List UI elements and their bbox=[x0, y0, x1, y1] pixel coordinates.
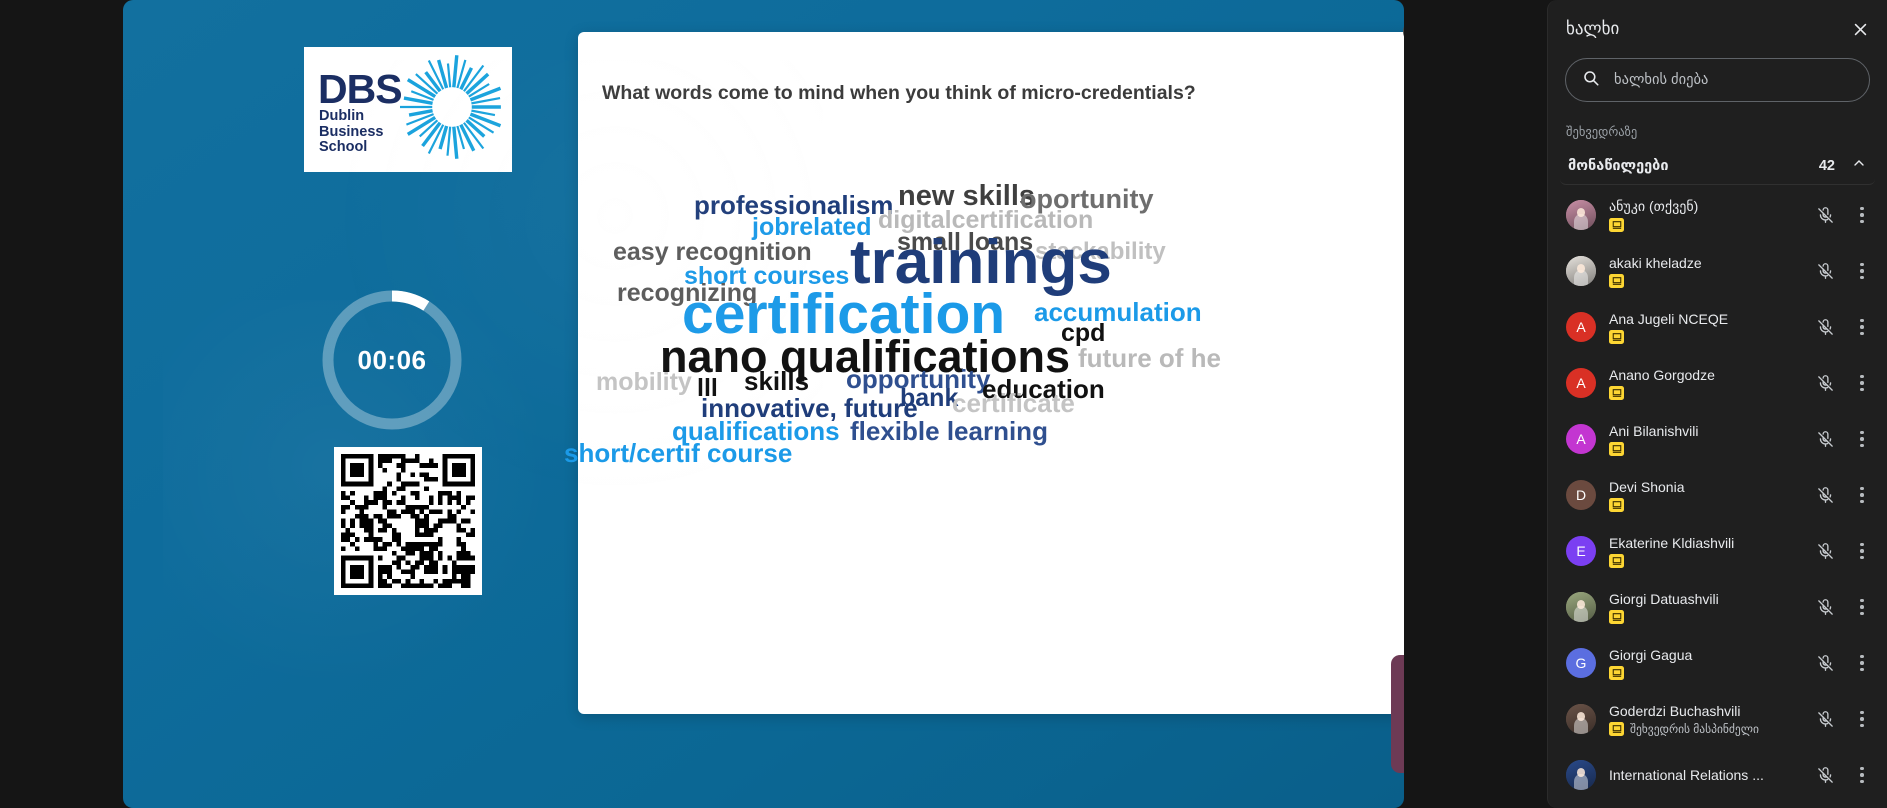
participant-name: Devi Shonia bbox=[1609, 479, 1799, 495]
countdown-timer: 00:06 bbox=[317, 285, 467, 435]
participant-name: Ekaterine Kldiashvili bbox=[1609, 535, 1799, 551]
word-cloud-term: flexible learning bbox=[850, 418, 1048, 444]
logo-title: DBS bbox=[318, 66, 402, 113]
group-label: მონაწილეები bbox=[1568, 158, 1819, 174]
search-icon bbox=[1582, 69, 1600, 92]
panel-title: ხალხი bbox=[1566, 19, 1619, 39]
participant-meta bbox=[1609, 666, 1799, 680]
dbs-logo: DBS Dublin Business School bbox=[304, 47, 512, 172]
search-input[interactable]: ხალხის ძიება bbox=[1565, 58, 1870, 102]
responses-badge: 19 / 19 bbox=[1403, 18, 1404, 45]
participant-info: Giorgi Datuashvili bbox=[1609, 591, 1799, 624]
participant-meta bbox=[1609, 330, 1799, 344]
mic-off-icon[interactable] bbox=[1812, 654, 1838, 673]
mic-off-icon[interactable] bbox=[1812, 766, 1838, 785]
close-icon[interactable] bbox=[1847, 16, 1873, 42]
avatar bbox=[1566, 200, 1596, 230]
logo-subtitle-line1: Dublin bbox=[319, 109, 383, 125]
participant-info: Giorgi Gagua bbox=[1609, 647, 1799, 680]
more-options-icon[interactable] bbox=[1851, 431, 1873, 448]
avatar bbox=[1566, 760, 1596, 790]
presentation-stage: DBS Dublin Business School 00:06 bbox=[123, 0, 1404, 808]
panel-header: ხალხი bbox=[1548, 0, 1887, 58]
word-cloud-term: easy recognition bbox=[613, 240, 812, 265]
presenting-icon bbox=[1609, 274, 1624, 288]
participant-name: International Relations ... bbox=[1609, 767, 1799, 783]
participant-meta bbox=[1609, 442, 1799, 456]
participant-name: Giorgi Datuashvili bbox=[1609, 591, 1799, 607]
poll-question: What words come to mind when you think o… bbox=[602, 82, 1196, 105]
word-cloud-term: qualifications bbox=[672, 418, 840, 444]
avatar bbox=[1566, 592, 1596, 622]
participant-row[interactable]: DDevi Shonia bbox=[1548, 467, 1887, 523]
more-options-icon[interactable] bbox=[1851, 711, 1873, 728]
presenting-icon bbox=[1609, 722, 1624, 736]
word-cloud: professionalismnew skillsoportunityjobre… bbox=[578, 182, 1404, 582]
mic-off-icon[interactable] bbox=[1812, 374, 1838, 393]
avatar bbox=[1566, 704, 1596, 734]
participant-info: Ani Bilanishvili bbox=[1609, 423, 1799, 456]
participant-info: Devi Shonia bbox=[1609, 479, 1799, 512]
participant-info: ანუკი (თქვენ) bbox=[1609, 198, 1799, 232]
participant-row[interactable]: EEkaterine Kldiashvili bbox=[1548, 523, 1887, 579]
people-panel: ხალხი ხალხის ძიება შეხვედრაზე მონაწილეებ… bbox=[1547, 0, 1887, 808]
participant-row[interactable]: AAnano Gorgodze bbox=[1548, 355, 1887, 411]
participant-row[interactable]: GGiorgi Gagua bbox=[1548, 635, 1887, 691]
more-options-icon[interactable] bbox=[1851, 207, 1873, 224]
poll-slide: 19 / 19 What words come to mind when you… bbox=[578, 32, 1404, 714]
presenting-icon bbox=[1609, 666, 1624, 680]
logo-subtitle: Dublin Business School bbox=[319, 109, 383, 156]
self-view-tile[interactable]: ანუკი bbox=[1391, 655, 1404, 773]
mic-off-icon[interactable] bbox=[1812, 710, 1838, 729]
avatar: E bbox=[1566, 536, 1596, 566]
more-options-icon[interactable] bbox=[1851, 543, 1873, 560]
avatar: A bbox=[1566, 312, 1596, 342]
participant-meta bbox=[1609, 554, 1799, 568]
participant-name: ანუკი (თქვენ) bbox=[1609, 198, 1799, 215]
participant-row[interactable]: AAni Bilanishvili bbox=[1548, 411, 1887, 467]
participant-row[interactable]: Goderdzi Buchashvili შეხვედრის მასპინძელ… bbox=[1548, 691, 1887, 747]
participant-info: Anano Gorgodze bbox=[1609, 367, 1799, 400]
participant-row[interactable]: ანუკი (თქვენ) bbox=[1548, 187, 1887, 243]
participant-list: ანუკი (თქვენ) akaki kheladze AAna Jugeli… bbox=[1548, 187, 1887, 803]
participant-meta bbox=[1609, 274, 1799, 288]
avatar: A bbox=[1566, 368, 1596, 398]
word-cloud-term: mobility bbox=[596, 370, 692, 395]
word-cloud-term: skills bbox=[744, 368, 809, 394]
participant-meta bbox=[1609, 386, 1799, 400]
presenting-icon bbox=[1609, 498, 1624, 512]
presenting-icon bbox=[1609, 554, 1624, 568]
word-cloud-term: recognizing bbox=[617, 281, 757, 306]
mic-off-icon[interactable] bbox=[1812, 430, 1838, 449]
participant-name: akaki kheladze bbox=[1609, 255, 1799, 271]
participant-info: Ekaterine Kldiashvili bbox=[1609, 535, 1799, 568]
qr-code[interactable] bbox=[334, 447, 482, 595]
participant-info: International Relations ... bbox=[1609, 767, 1799, 783]
participant-meta bbox=[1609, 218, 1799, 232]
more-options-icon[interactable] bbox=[1851, 767, 1873, 784]
participant-name: Ana Jugeli NCEQE bbox=[1609, 311, 1799, 327]
participant-row[interactable]: International Relations ... bbox=[1548, 747, 1887, 803]
presenting-icon bbox=[1609, 386, 1624, 400]
participant-name: Goderdzi Buchashvili bbox=[1609, 703, 1799, 719]
avatar: D bbox=[1566, 480, 1596, 510]
logo-subtitle-line3: School bbox=[319, 140, 383, 156]
participant-meta: შეხვედრის მასპინძელი bbox=[1609, 722, 1799, 736]
more-options-icon[interactable] bbox=[1851, 263, 1873, 280]
avatar: G bbox=[1566, 648, 1596, 678]
participant-info: Ana Jugeli NCEQE bbox=[1609, 311, 1799, 344]
search-placeholder: ხალხის ძიება bbox=[1614, 72, 1708, 88]
participant-name: Giorgi Gagua bbox=[1609, 647, 1799, 663]
mic-off-icon[interactable] bbox=[1812, 486, 1838, 505]
more-options-icon[interactable] bbox=[1851, 375, 1873, 392]
presenting-icon bbox=[1609, 442, 1624, 456]
presenting-icon bbox=[1609, 330, 1624, 344]
mic-off-icon[interactable] bbox=[1812, 206, 1838, 225]
timer-value: 00:06 bbox=[317, 285, 467, 435]
participant-name: Anano Gorgodze bbox=[1609, 367, 1799, 383]
more-options-icon[interactable] bbox=[1851, 599, 1873, 616]
word-cloud-term: accumulation bbox=[1034, 299, 1202, 325]
participant-name: Ani Bilanishvili bbox=[1609, 423, 1799, 439]
more-options-icon[interactable] bbox=[1851, 487, 1873, 504]
timer-ring bbox=[317, 285, 467, 435]
more-options-icon[interactable] bbox=[1851, 319, 1873, 336]
mic-off-icon[interactable] bbox=[1812, 598, 1838, 617]
avatar: A bbox=[1566, 424, 1596, 454]
sunburst-icon bbox=[400, 55, 504, 159]
group-count: 42 bbox=[1819, 158, 1835, 174]
logo-subtitle-line2: Business bbox=[319, 125, 383, 141]
presenting-icon bbox=[1609, 610, 1624, 624]
participant-row[interactable]: akaki kheladze bbox=[1548, 243, 1887, 299]
participant-meta bbox=[1609, 498, 1799, 512]
participant-row[interactable]: Giorgi Datuashvili bbox=[1548, 579, 1887, 635]
mic-off-icon[interactable] bbox=[1812, 542, 1838, 561]
participant-info: Goderdzi Buchashvili შეხვედრის მასპინძელ… bbox=[1609, 703, 1799, 736]
participant-row[interactable]: AAna Jugeli NCEQE bbox=[1548, 299, 1887, 355]
word-cloud-term: lll bbox=[697, 376, 718, 401]
word-cloud-term: certificate bbox=[952, 390, 1075, 416]
mic-off-icon[interactable] bbox=[1812, 262, 1838, 281]
participant-info: akaki kheladze bbox=[1609, 255, 1799, 288]
participants-group-header[interactable]: მონაწილეები 42 bbox=[1560, 147, 1875, 185]
search-container: ხალხის ძიება bbox=[1548, 58, 1887, 102]
avatar bbox=[1566, 256, 1596, 286]
chevron-up-icon[interactable] bbox=[1851, 155, 1867, 176]
mic-off-icon[interactable] bbox=[1812, 318, 1838, 337]
participant-meta bbox=[1609, 610, 1799, 624]
word-cloud-term: future of he bbox=[1078, 345, 1221, 371]
participant-subtitle: შეხვედრის მასპინძელი bbox=[1630, 722, 1759, 736]
section-label: შეხვედრაზე bbox=[1548, 102, 1887, 147]
meeting-window: DBS Dublin Business School 00:06 bbox=[0, 0, 1887, 808]
word-cloud-term: short/certif course bbox=[564, 440, 792, 466]
presenting-icon bbox=[1609, 218, 1624, 232]
more-options-icon[interactable] bbox=[1851, 655, 1873, 672]
